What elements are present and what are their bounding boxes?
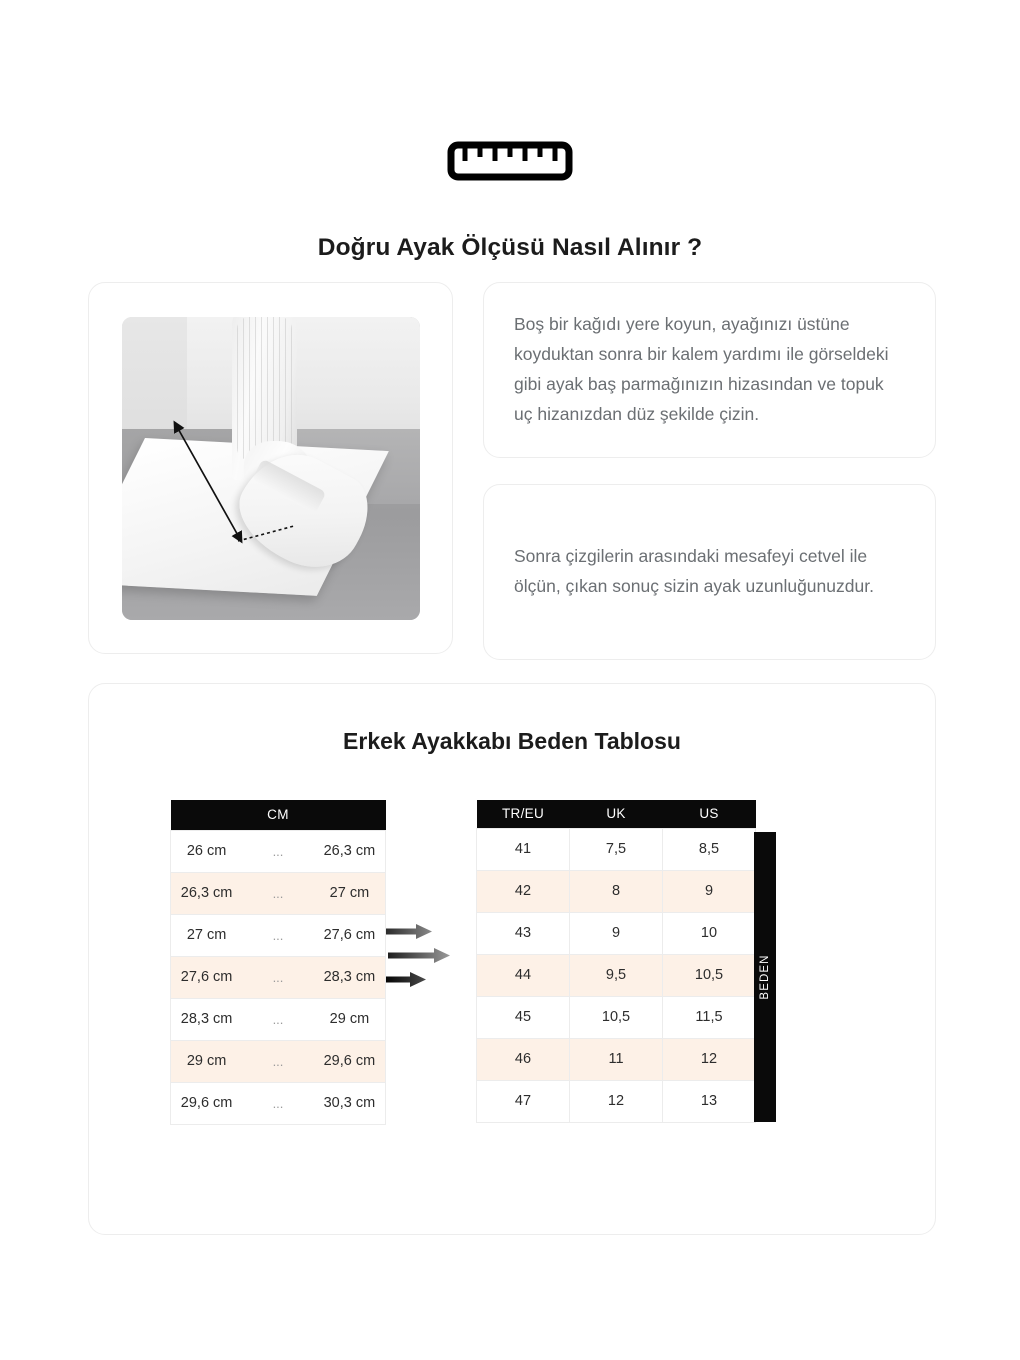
size-tr-eu: 47: [477, 1080, 570, 1122]
instructions-section: Boş bir kağıdı yere koyun, ayağınızı üst…: [88, 282, 936, 660]
size-conversion-table: TR/EU UK US 41 7,5 8,5 42 8 9 43: [476, 800, 756, 1123]
size-tr-eu: 46: [477, 1038, 570, 1080]
size-us: 10,5: [663, 954, 756, 996]
ruler-icon-container: [0, 140, 1020, 182]
cm-separator: ...: [242, 872, 314, 914]
size-uk: 7,5: [570, 828, 663, 870]
table-row: 26,3 cm ... 27 cm: [171, 872, 386, 914]
cm-to: 29 cm: [314, 998, 386, 1040]
column-header-uk: UK: [570, 800, 663, 828]
size-us: 10: [663, 912, 756, 954]
size-uk: 9: [570, 912, 663, 954]
instruction-card-2: Sonra çizgilerin arasındaki mesafeyi cet…: [483, 484, 936, 660]
arrow-right-icon: [386, 972, 426, 987]
cm-separator: ...: [242, 956, 314, 998]
size-uk: 12: [570, 1080, 663, 1122]
size-uk: 10,5: [570, 996, 663, 1038]
cm-from: 26,3 cm: [171, 872, 243, 914]
arrow-right-icon: [388, 948, 450, 963]
cm-separator: ...: [242, 914, 314, 956]
cm-table-header: CM: [171, 800, 386, 830]
size-tr-eu: 42: [477, 870, 570, 912]
cm-to: 29,6 cm: [314, 1040, 386, 1082]
size-table-header-row: TR/EU UK US: [477, 800, 756, 828]
cm-separator: ...: [242, 830, 314, 872]
cm-separator: ...: [242, 1082, 314, 1124]
ruler-icon: [447, 140, 573, 182]
cm-from: 29,6 cm: [171, 1082, 243, 1124]
cm-from: 28,3 cm: [171, 998, 243, 1040]
table-row: 26 cm ... 26,3 cm: [171, 830, 386, 872]
size-us: 13: [663, 1080, 756, 1122]
size-chart-title: Erkek Ayakkabı Beden Tablosu: [89, 684, 935, 755]
conversion-arrows: [386, 800, 476, 987]
arrow-right-icon: [386, 924, 432, 939]
size-tables-wrapper: CM 26 cm ... 26,3 cm 26,3 cm ... 27 cm 2…: [142, 800, 882, 1125]
size-us: 12: [663, 1038, 756, 1080]
cm-separator: ...: [242, 1040, 314, 1082]
cm-to: 27,6 cm: [314, 914, 386, 956]
cm-conversion-table: CM 26 cm ... 26,3 cm 26,3 cm ... 27 cm 2…: [170, 800, 386, 1125]
foot-on-paper-photo: [122, 317, 420, 620]
beden-side-label: BEDEN: [754, 832, 776, 1122]
size-uk: 8: [570, 870, 663, 912]
page-title: Doğru Ayak Ölçüsü Nasıl Alınır ?: [0, 234, 1020, 262]
table-row: 41 7,5 8,5: [477, 828, 756, 870]
foot-measure-photo-card: [88, 282, 453, 654]
cm-from: 27 cm: [171, 914, 243, 956]
instruction-text-1: Boş bir kağıdı yere koyun, ayağınızı üst…: [514, 309, 905, 429]
table-row: 46 11 12: [477, 1038, 756, 1080]
size-tr-eu: 44: [477, 954, 570, 996]
table-row: 28,3 cm ... 29 cm: [171, 998, 386, 1040]
column-header-tr-eu: TR/EU: [477, 800, 570, 828]
size-tr-eu: 45: [477, 996, 570, 1038]
cm-from: 26 cm: [171, 830, 243, 872]
cm-to: 28,3 cm: [314, 956, 386, 998]
size-chart-card: Erkek Ayakkabı Beden Tablosu CM 26 cm ..…: [88, 683, 936, 1235]
cm-to: 26,3 cm: [314, 830, 386, 872]
cm-to: 27 cm: [314, 872, 386, 914]
beden-label-text: BEDEN: [759, 954, 771, 999]
instruction-text-2: Sonra çizgilerin arasındaki mesafeyi cet…: [514, 541, 905, 601]
cm-from: 29 cm: [171, 1040, 243, 1082]
table-row: 45 10,5 11,5: [477, 996, 756, 1038]
size-us: 9: [663, 870, 756, 912]
table-row: 43 9 10: [477, 912, 756, 954]
size-uk: 9,5: [570, 954, 663, 996]
cm-table-header-row: CM: [171, 800, 386, 830]
table-row: 47 12 13: [477, 1080, 756, 1122]
instruction-cards: Boş bir kağıdı yere koyun, ayağınızı üst…: [483, 282, 936, 660]
instruction-card-1: Boş bir kağıdı yere koyun, ayağınızı üst…: [483, 282, 936, 458]
size-uk: 11: [570, 1038, 663, 1080]
table-row: 42 8 9: [477, 870, 756, 912]
table-row: 44 9,5 10,5: [477, 954, 756, 996]
cm-from: 27,6 cm: [171, 956, 243, 998]
table-row: 27,6 cm ... 28,3 cm: [171, 956, 386, 998]
table-row: 27 cm ... 27,6 cm: [171, 914, 386, 956]
table-row: 29 cm ... 29,6 cm: [171, 1040, 386, 1082]
measure-arrow-icon: [122, 317, 420, 620]
size-us: 11,5: [663, 996, 756, 1038]
column-header-us: US: [663, 800, 756, 828]
cm-to: 30,3 cm: [314, 1082, 386, 1124]
size-tr-eu: 43: [477, 912, 570, 954]
size-tr-eu: 41: [477, 828, 570, 870]
cm-separator: ...: [242, 998, 314, 1040]
table-row: 29,6 cm ... 30,3 cm: [171, 1082, 386, 1124]
size-us: 8,5: [663, 828, 756, 870]
